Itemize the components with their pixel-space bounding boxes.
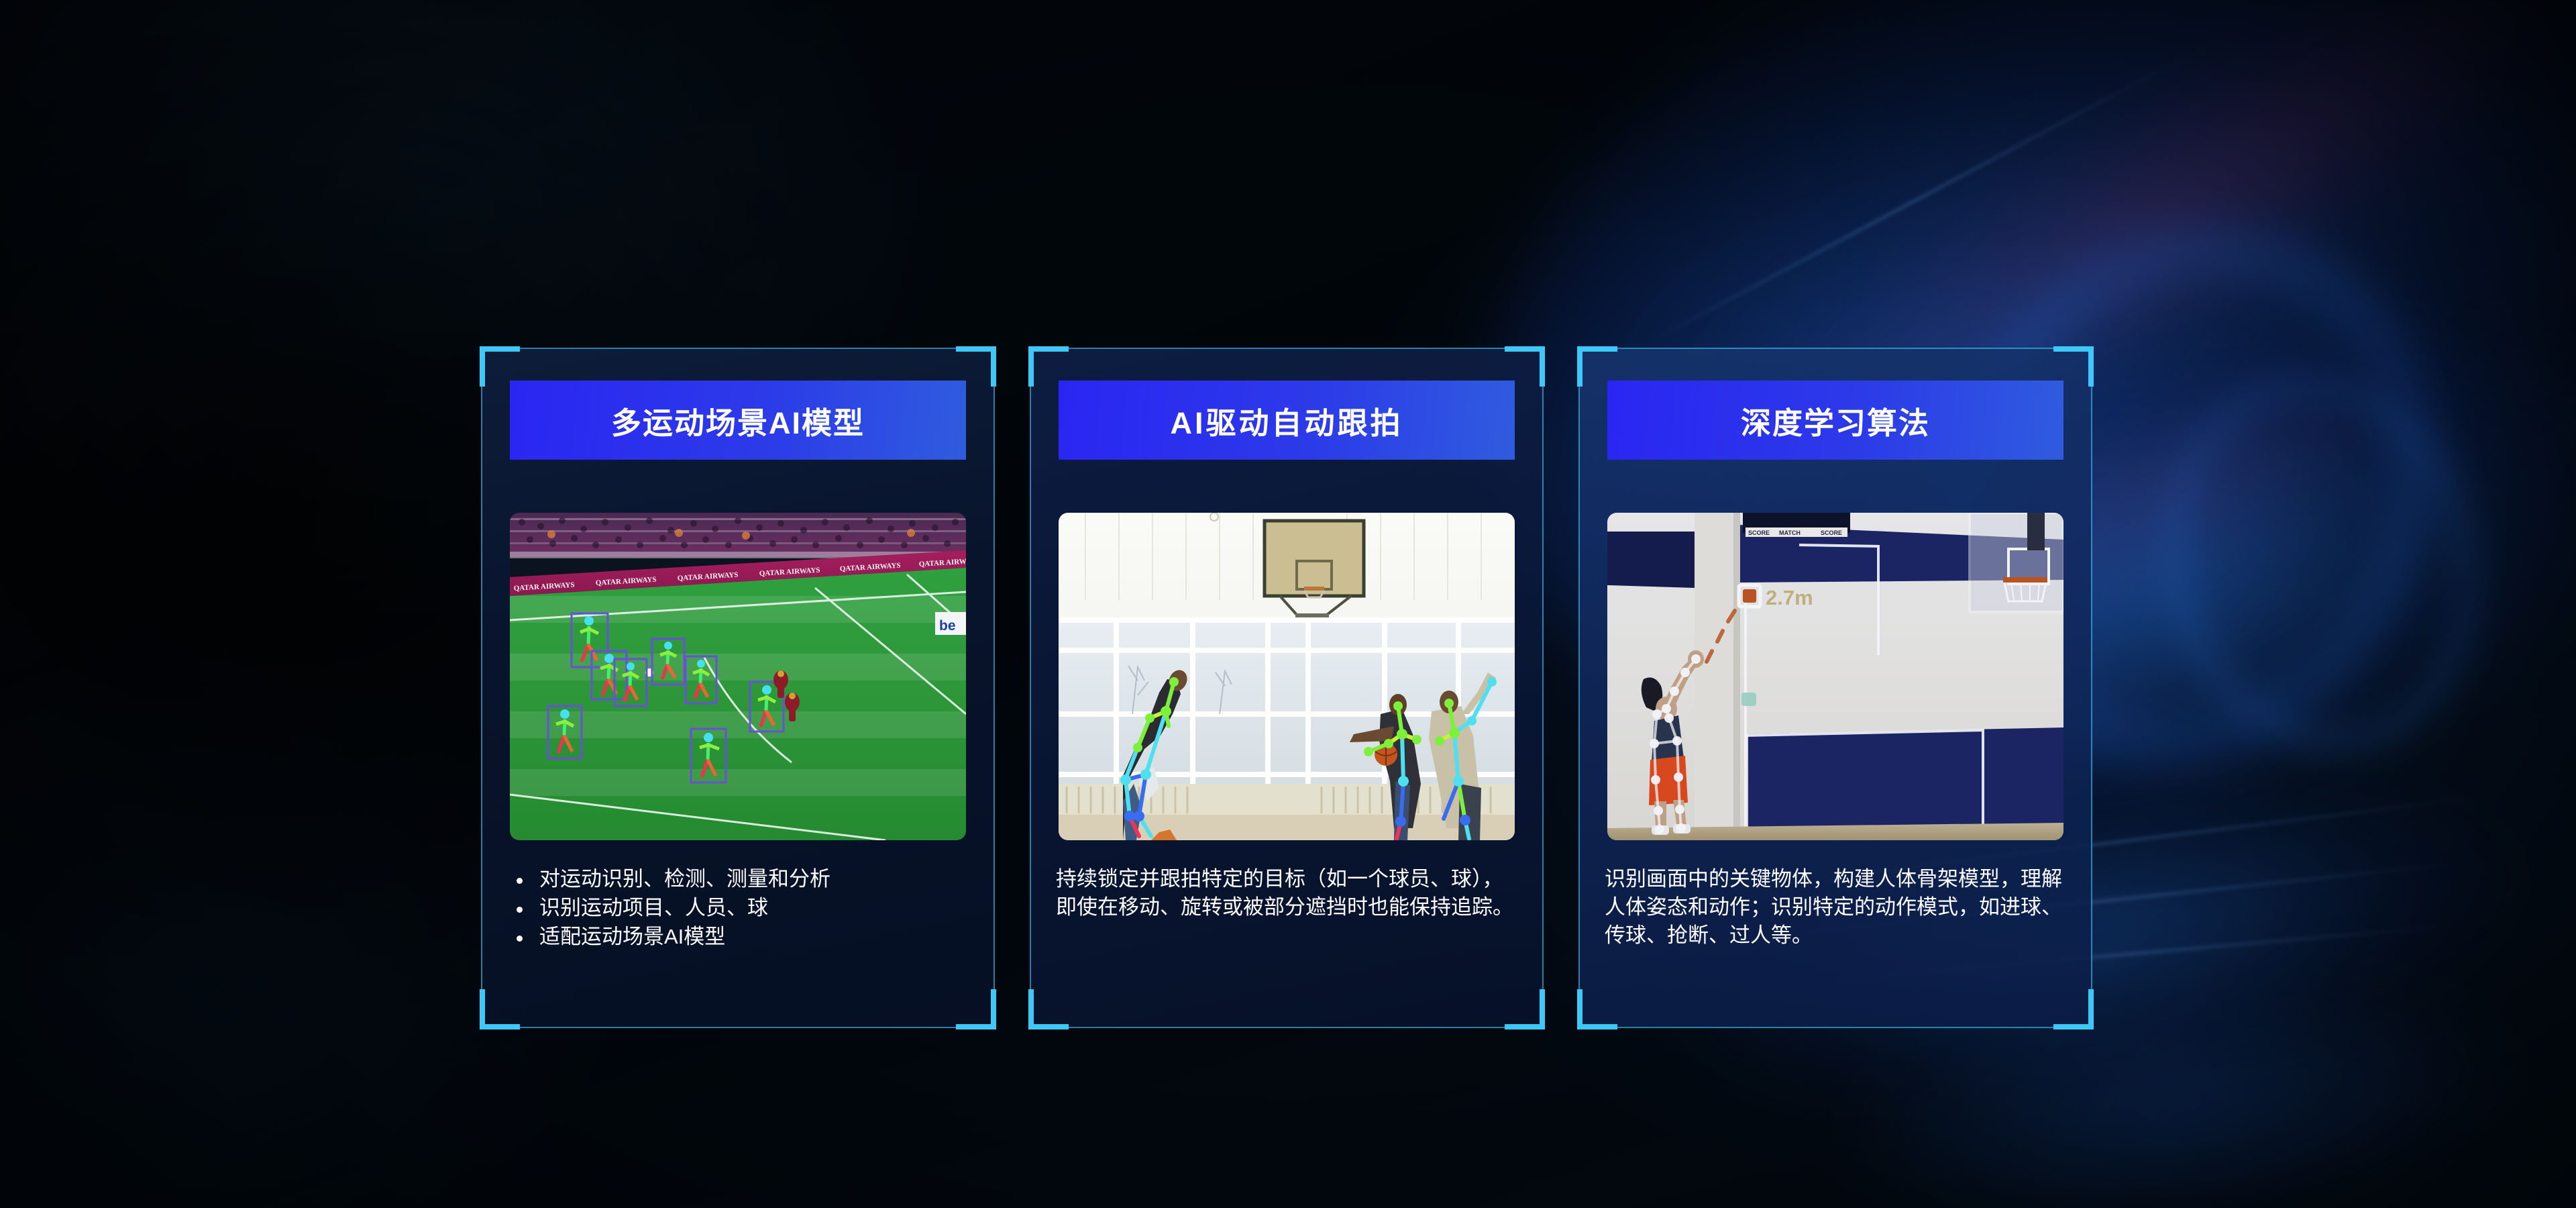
corner-bracket-bottom-right-icon	[1505, 989, 1545, 1029]
card-2-thumbnail[interactable]	[1059, 513, 1515, 840]
card-1-title-banner: 多运动场景AI模型	[510, 381, 966, 460]
card-2-description: 持续锁定并跟拍特定的目标（如一个球员、球），即使在移动、旋转或被部分遮挡时也能保…	[1056, 865, 1520, 921]
card-2-title-banner: AI驱动自动跟拍	[1059, 381, 1515, 460]
corner-bracket-bottom-left-icon	[1577, 989, 1617, 1029]
list-item: 对运动识别、检测、测量和分析	[507, 865, 971, 894]
card-3-title: 深度学习算法	[1741, 399, 1930, 442]
card-3-title-banner: 深度学习算法	[1607, 381, 2063, 460]
feature-card-2[interactable]: AI驱动自动跟拍	[1030, 348, 1543, 1027]
corner-bracket-bottom-left-icon	[1028, 989, 1069, 1029]
card-3-thumbnail[interactable]: SCORE MATCH SCORE	[1607, 513, 2063, 840]
list-item: 适配运动场景AI模型	[507, 923, 971, 952]
card-1-body: 对运动识别、检测、测量和分析 识别运动项目、人员、球 适配运动场景AI模型	[507, 865, 971, 951]
corner-bracket-bottom-right-icon	[2053, 989, 2094, 1029]
card-1-thumbnail[interactable]: QATAR AIRWAYS QATAR AIRWAYS QATAR AIRWAY…	[510, 513, 966, 840]
feature-card-1[interactable]: 多运动场景AI模型	[482, 348, 994, 1027]
card-1-bullet-list: 对运动识别、检测、测量和分析 识别运动项目、人员、球 适配运动场景AI模型	[507, 865, 971, 951]
card-3-body: 识别画面中的关键物体，构建人体骨架模型，理解人体姿态和动作；识别特定的动作模式，…	[1605, 865, 2069, 950]
card-3-description: 识别画面中的关键物体，构建人体骨架模型，理解人体姿态和动作；识别特定的动作模式，…	[1605, 865, 2069, 950]
svg-text:be: be	[939, 618, 956, 634]
card-2-title: AI驱动自动跟拍	[1170, 399, 1403, 442]
corner-bracket-bottom-right-icon	[956, 989, 996, 1029]
card-2-body: 持续锁定并跟拍特定的目标（如一个球员、球），即使在移动、旋转或被部分遮挡时也能保…	[1056, 865, 1520, 921]
list-item: 识别运动项目、人员、球	[507, 894, 971, 923]
card-1-title: 多运动场景AI模型	[611, 399, 865, 442]
feature-card-3[interactable]: 深度学习算法	[1579, 348, 2092, 1027]
feature-cards-row: 多运动场景AI模型	[482, 348, 2092, 1027]
corner-bracket-bottom-left-icon	[480, 989, 520, 1029]
